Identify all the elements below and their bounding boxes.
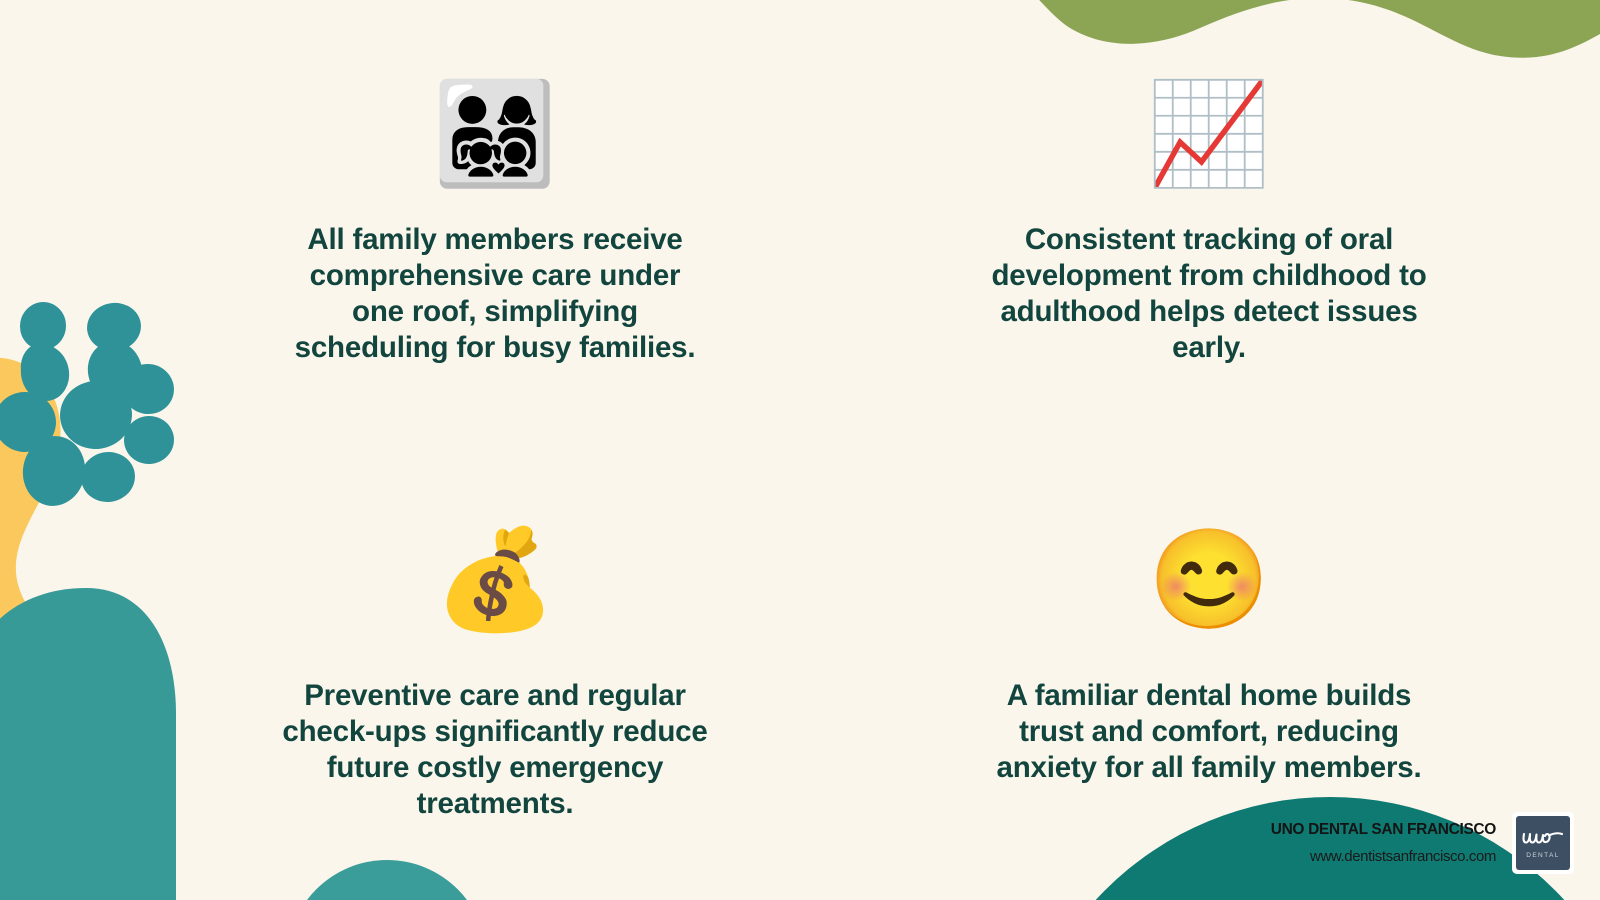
- benefit-caption: Preventive care and regular check-ups si…: [280, 678, 710, 822]
- logo-tile: DENTAL: [1512, 812, 1574, 874]
- benefits-grid: 👨‍👩‍👧‍👦 All family members receive compr…: [0, 0, 1600, 900]
- benefit-card-family-care: 👨‍👩‍👧‍👦 All family members receive compr…: [0, 0, 800, 450]
- benefit-card-cost-savings: 💰 Preventive care and regular check-ups …: [0, 450, 800, 900]
- infographic-canvas: 👨‍👩‍👧‍👦 All family members receive compr…: [0, 0, 1600, 900]
- uno-wordmark-icon: [1520, 827, 1566, 851]
- family-emoji: 👨‍👩‍👧‍👦: [433, 84, 558, 196]
- benefit-caption: All family members receive comprehensive…: [280, 222, 710, 366]
- money-bag-emoji: 💰: [434, 530, 556, 642]
- footer-text-block: UNO DENTAL SAN FRANCISCO www.dentistsanf…: [1271, 821, 1496, 865]
- logo-subtitle: DENTAL: [1526, 852, 1560, 859]
- footer-branding: UNO DENTAL SAN FRANCISCO www.dentistsanf…: [1271, 812, 1574, 874]
- benefit-caption: A familiar dental home builds trust and …: [987, 678, 1432, 786]
- chart-increasing-emoji: 📈: [1147, 84, 1272, 196]
- brand-website-url[interactable]: www.dentistsanfrancisco.com: [1310, 848, 1496, 865]
- smiling-face-emoji: 😊: [1148, 530, 1270, 642]
- brand-name: UNO DENTAL SAN FRANCISCO: [1271, 821, 1496, 839]
- benefit-caption: Consistent tracking of oral development …: [987, 222, 1432, 366]
- benefit-card-oral-development-tracking: 📈 Consistent tracking of oral developmen…: [800, 0, 1600, 450]
- uno-dental-logo: DENTAL: [1516, 816, 1570, 870]
